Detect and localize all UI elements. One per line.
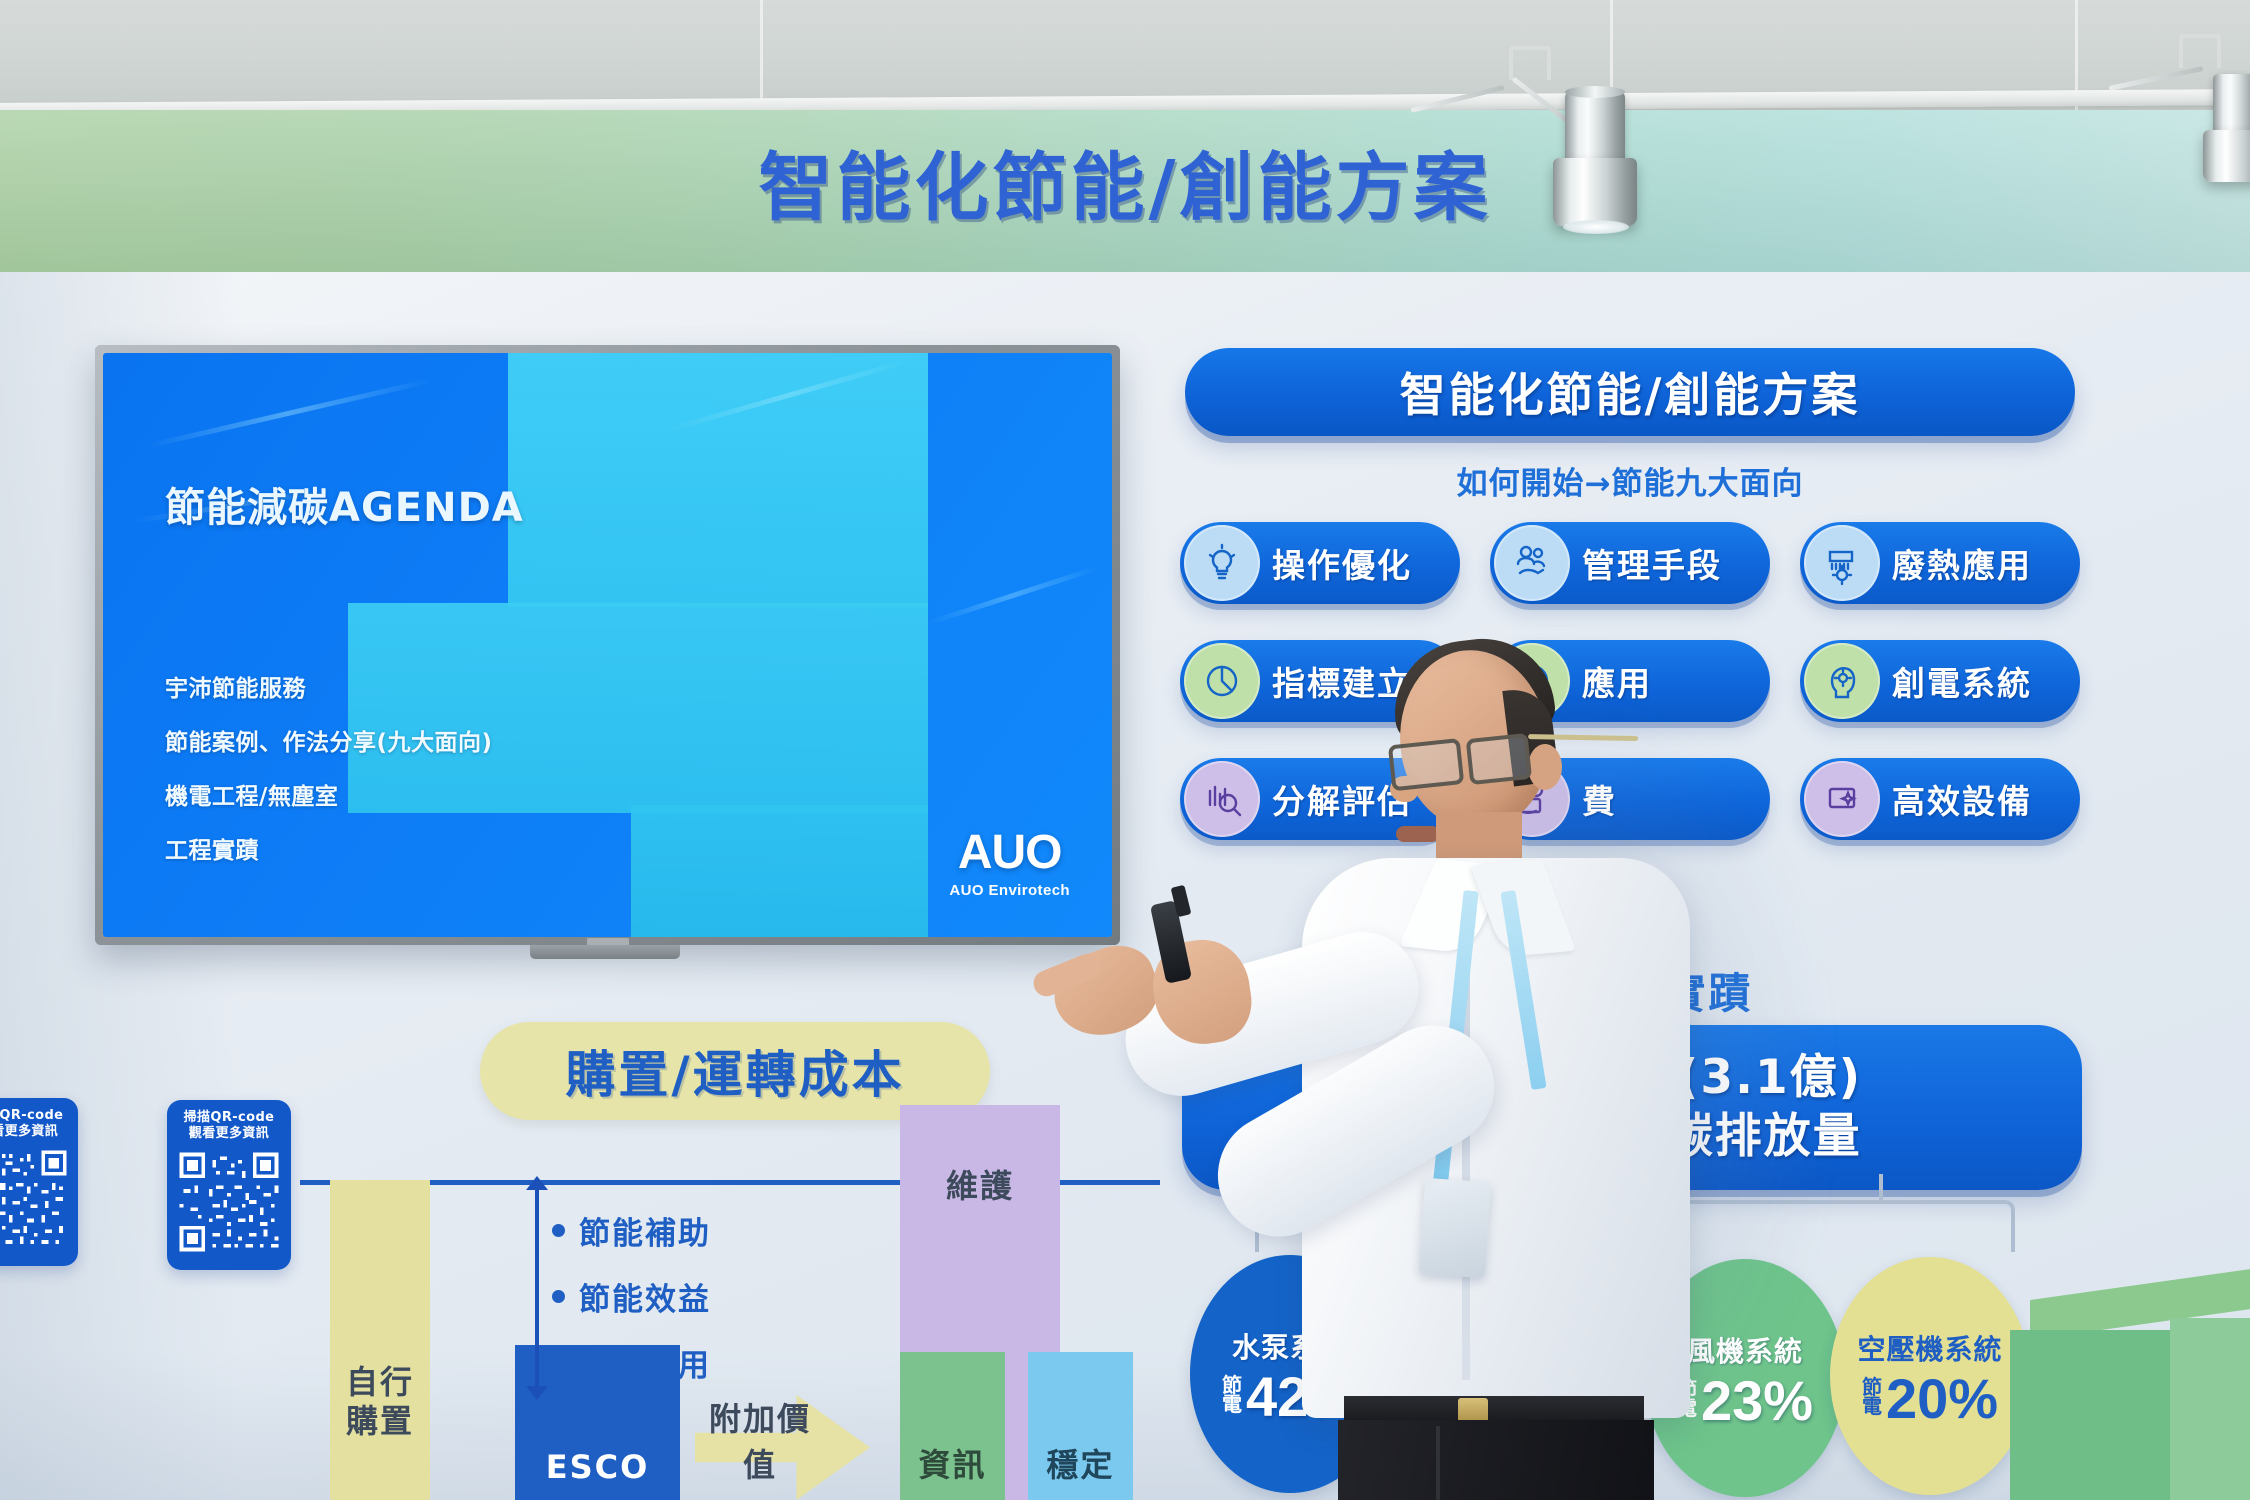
solution-header-label: 智能化節能/創能方案 [1400,359,1861,425]
system-name: 空壓機系統 [1857,1328,2002,1368]
list-item: 節能效益 [552,1274,711,1319]
cost-bar-label: 自行購置 [330,1363,430,1440]
cost-bar-label: 附加價值 [695,1394,825,1486]
cost-bar-information: 資訊 [900,1352,1005,1500]
slide-shape-c [631,805,928,937]
list-item: 工程實蹟 [165,840,493,863]
auo-logo-mark: AUO [949,825,1070,880]
slide-agenda-list: 宇沛節能服務 節能案例、作法分享(九大面向) 機電工程/無塵室 工程實蹟 [165,678,493,894]
aspect-pill-high-efficiency-equipment[interactable]: 高效設備 [1800,758,2080,840]
slide-title: 節能減碳AGENDA [165,475,524,533]
aspect-pill-label: 創電系統 [1892,657,2032,705]
list-item: 機電工程/無塵室 [165,786,493,809]
cost-bar-label: 維護 [900,1161,1060,1207]
auo-logo: AUO AUO Envirotech [949,825,1070,899]
list-item: 維護費用 [552,1340,711,1385]
slide-streak-1 [146,378,430,448]
metric-label: 節電 [1862,1378,1882,1416]
aspect-pill-operation-optimization[interactable]: 操作優化 [1180,522,1460,604]
cost-benefit-list: 節能補助 節能效益 維護費用 [552,1208,711,1406]
aspect-pill-label: 管理手段 [1582,539,1722,587]
list-item: 節能案例、作法分享(九大面向) [165,732,493,755]
aspect-pill-management[interactable]: 管理手段 [1490,522,1770,604]
lightbulb-icon [1184,525,1260,601]
presenter-trouser-pleat [1436,1426,1440,1500]
presenter [1240,640,1760,1500]
aspect-pill-waste-heat[interactable]: 廢熱應用 [1800,522,2080,604]
savings-circle-air-compressor: 空壓機系統 節電 20% [1830,1257,2030,1495]
display-stand [530,945,680,959]
solution-subtitle: 如何開始→節能九大面向 [1185,458,2075,503]
cost-bar-self-purchase: 自行購置 [330,1180,430,1500]
qr-caption-line2: 觀看更多資訊 [0,1124,70,1140]
exhibition-scene: 智能化節能/創能方案 節能減碳AGENDA 宇沛節能服務 節能案例、作法分享(九… [0,0,2250,1500]
qr-caption-line1: 掃描QR-code [0,1108,70,1124]
people-hand-icon [1494,525,1570,601]
auo-logo-subtitle: AUO Envirotech [949,882,1070,899]
qr-code-image [175,1149,283,1260]
slide-shape-a [508,353,928,607]
aspect-pill-label: 高效設備 [1892,775,2032,823]
cost-header-label: 購置/運轉成本 [565,1035,904,1107]
cost-delta-arrow [535,1188,539,1388]
qr-card-left[interactable]: 掃描QR-code 觀看更多資訊 [0,1098,78,1266]
presenter-trousers [1338,1420,1654,1500]
qr-caption-line2: 觀看更多資訊 [175,1126,283,1142]
list-item: 宇沛節能服務 [165,678,493,701]
cost-bar-label: 穩定 [1028,1440,1133,1486]
qr-code-image [0,1147,70,1256]
presentation-display[interactable]: 節能減碳AGENDA 宇沛節能服務 節能案例、作法分享(九大面向) 機電工程/無… [95,345,1120,945]
cost-bar-stability: 穩定 [1028,1352,1133,1500]
factory-gear-icon [1804,525,1880,601]
display-screen: 節能減碳AGENDA 宇沛節能服務 節能案例、作法分享(九大面向) 機電工程/無… [103,353,1112,937]
cost-bar-label: 資訊 [900,1440,1005,1486]
cost-bar-added-value-label: 附加價值 [695,1455,825,1500]
green-display-box [2010,1300,2250,1500]
presenter-mouth [1396,826,1440,842]
presenter-id-badge [1419,1178,1492,1278]
banner-title: 智能化節能/創能方案 [0,128,2250,235]
qr-card-right[interactable]: 掃描QR-code 觀看更多資訊 [167,1100,291,1270]
qr-caption-line1: 掃描QR-code [175,1110,283,1126]
metric-value: 20% [1886,1374,1998,1424]
aspect-pill-label: 操作優化 [1272,539,1412,587]
list-item: 節能補助 [552,1208,711,1253]
solution-header-banner: 智能化節能/創能方案 [1185,348,2075,436]
metric-label: 節電 [1222,1376,1242,1414]
cost-bar-label: ESCO [515,1448,680,1486]
slide-streak-4 [927,565,1100,625]
aspect-pill-power-generation[interactable]: 創電系統 [1800,640,2080,722]
aspect-pill-label: 廢熱應用 [1892,539,2032,587]
